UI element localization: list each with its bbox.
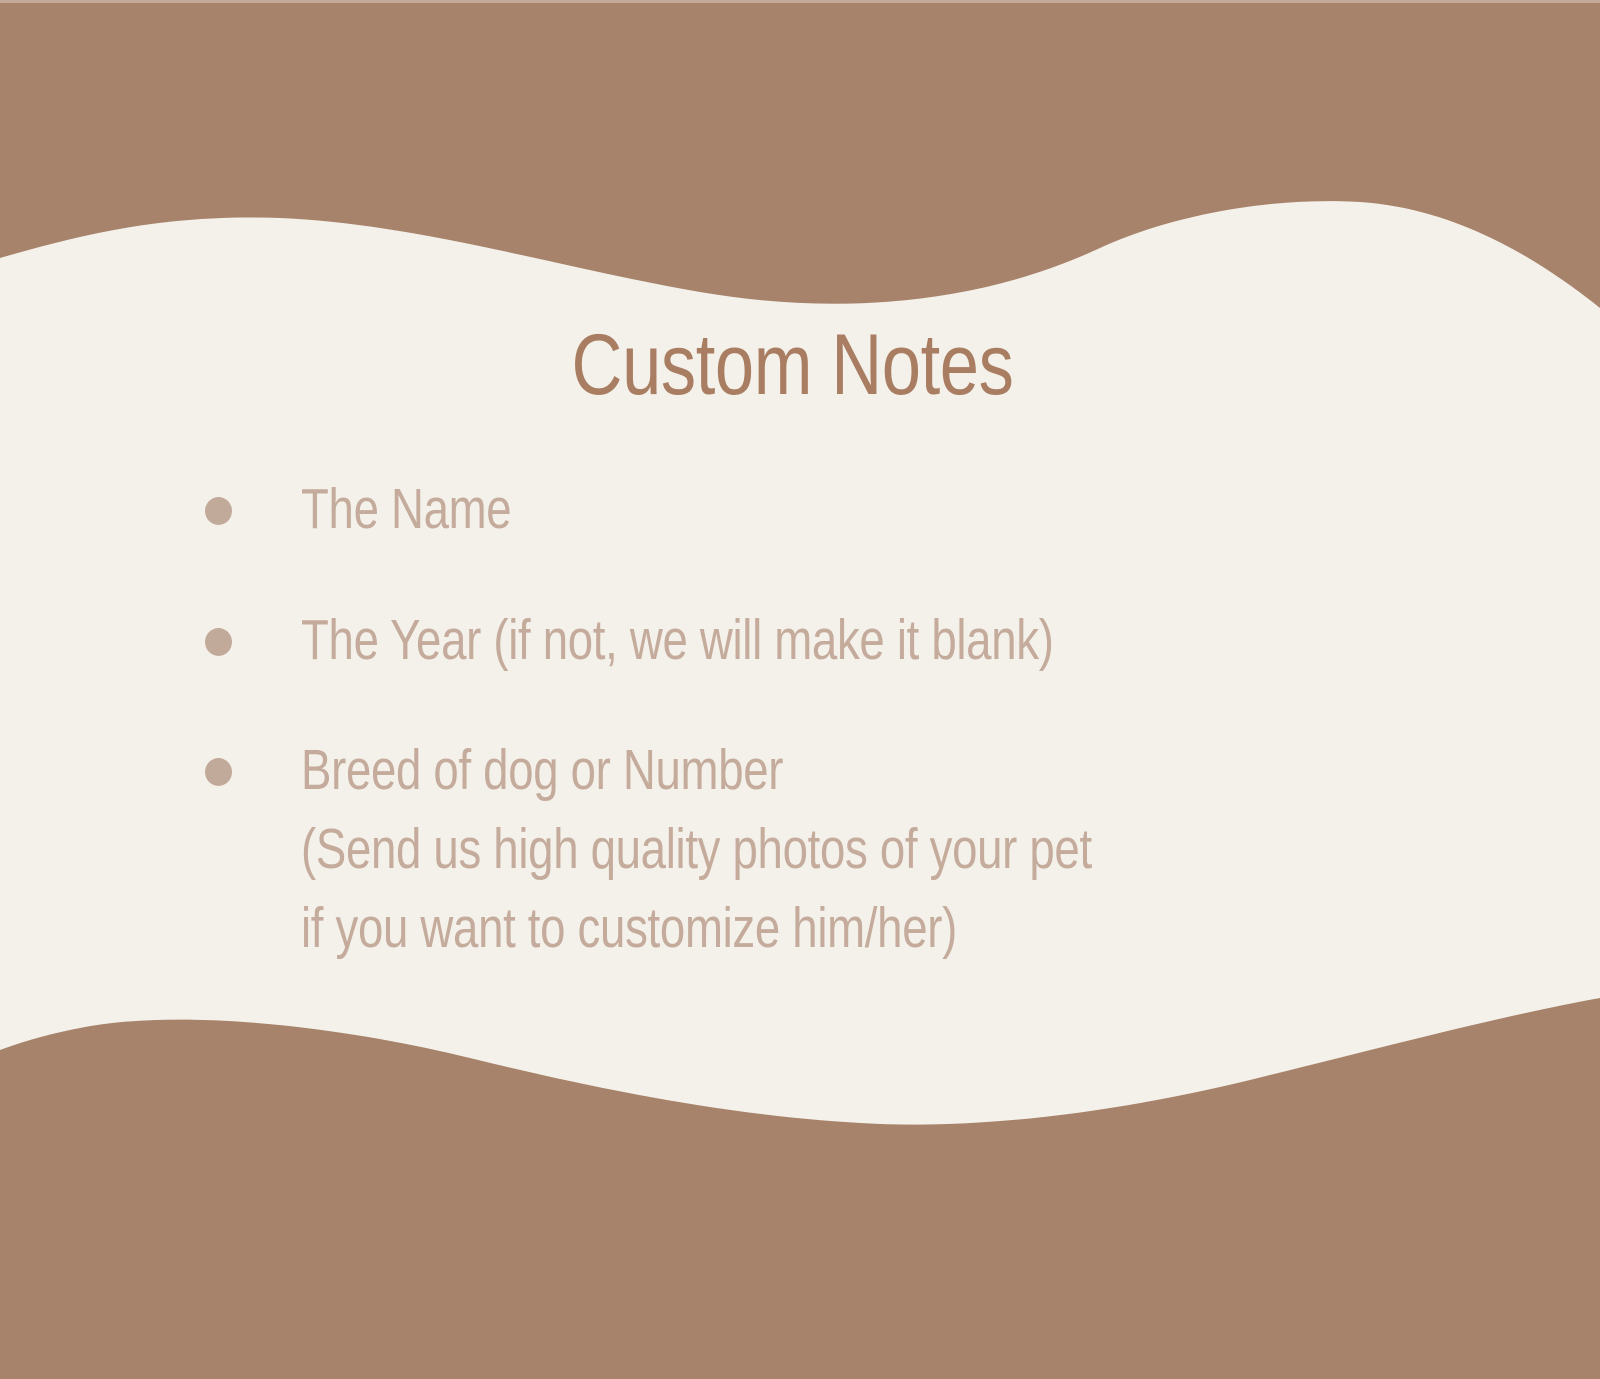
list-item-label: The Year (if not, we will make it blank) — [301, 601, 1296, 680]
list-item-label: Breed of dog or Number (Send us high qua… — [301, 731, 1296, 967]
list-item: Breed of dog or Number (Send us high qua… — [205, 731, 1545, 967]
slide-canvas: Custom Notes The Name The Year (if not, … — [0, 0, 1600, 1379]
list-item-label: The Name — [301, 470, 1296, 549]
bullet-dot-icon — [205, 758, 232, 786]
notes-list: The Name The Year (if not, we will make … — [205, 470, 1545, 967]
bullet-dot-icon — [205, 497, 232, 525]
list-item: The Year (if not, we will make it blank) — [205, 601, 1545, 680]
slide-content: Custom Notes The Name The Year (if not, … — [0, 0, 1600, 1379]
page-title: Custom Notes — [143, 322, 1443, 408]
list-item: The Name — [205, 470, 1545, 549]
bullet-dot-icon — [205, 628, 232, 656]
